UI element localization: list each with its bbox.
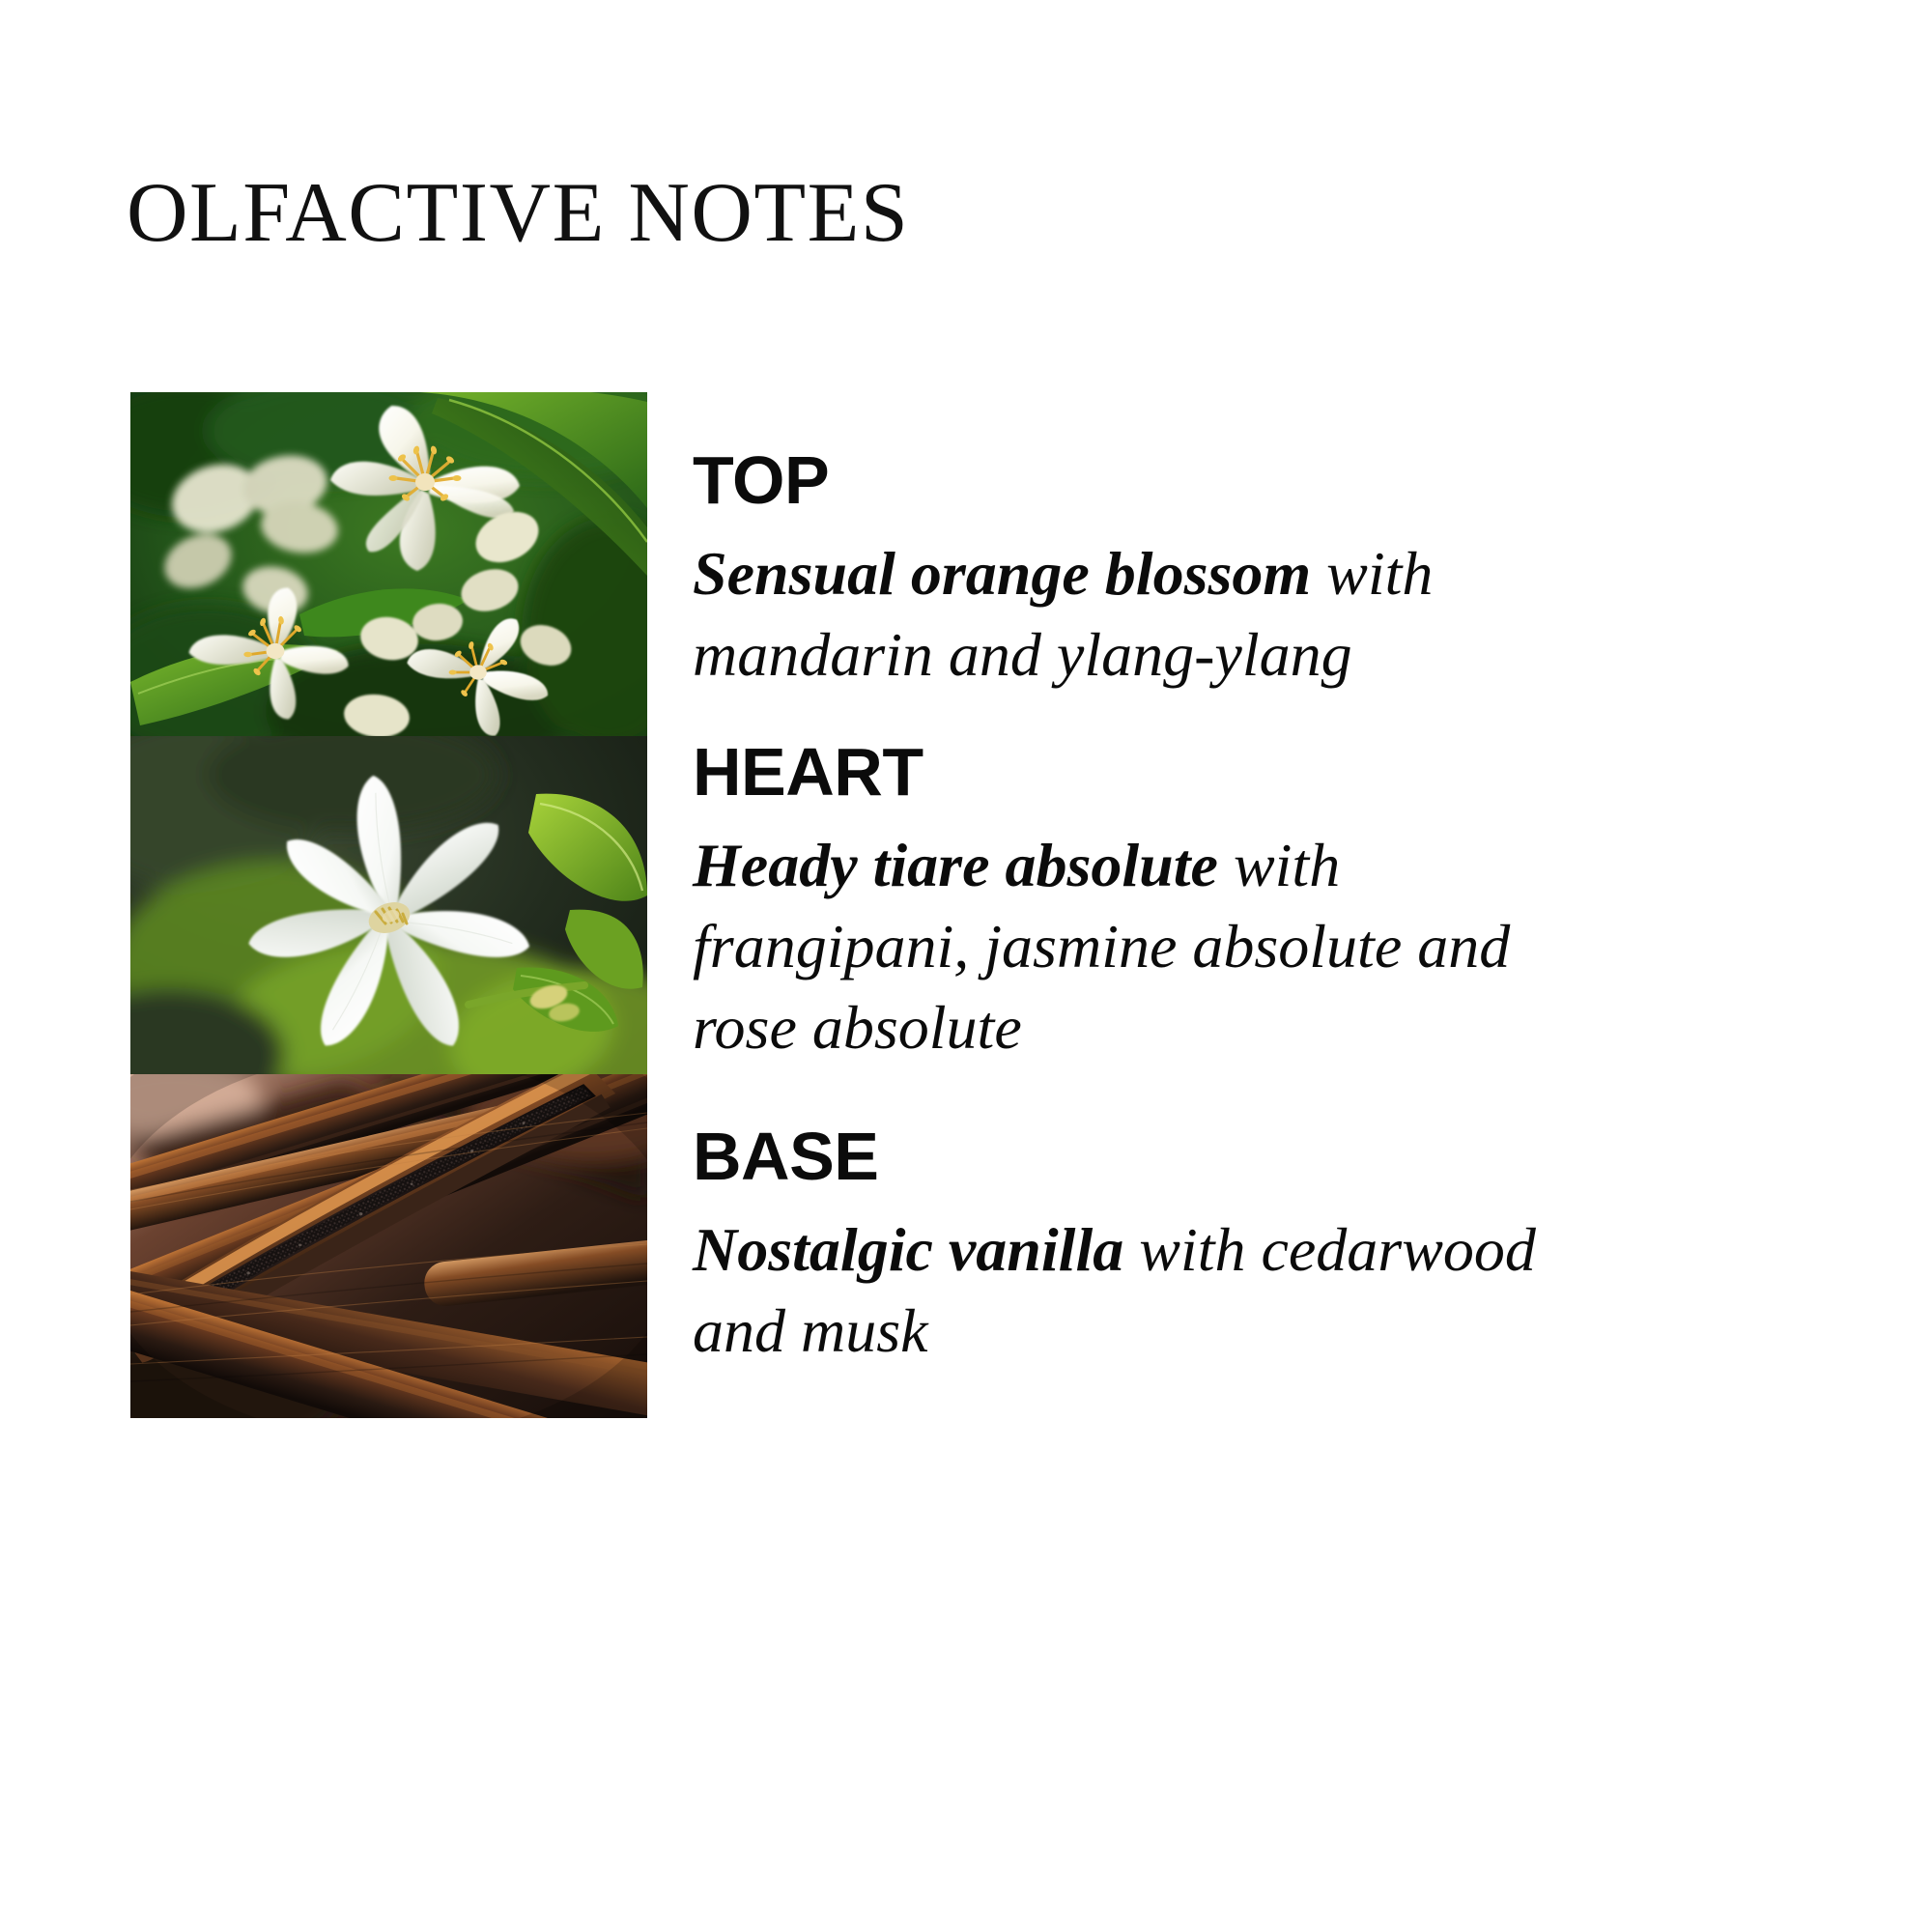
ingredient-image-column <box>130 392 647 1418</box>
olfactive-notes-list: TOP Sensual orange blossom with mandarin… <box>693 446 1562 1372</box>
note-label-top: TOP <box>693 446 1562 514</box>
note-description-base: Nostalgic vanilla with cedarwood and mus… <box>693 1209 1543 1372</box>
vanilla-pods-photo <box>130 1074 647 1418</box>
note-block-top: TOP Sensual orange blossom with mandarin… <box>693 446 1562 738</box>
note-label-heart: HEART <box>693 738 1562 806</box>
note-block-base: BASE Nostalgic vanilla with cedarwood an… <box>693 1122 1562 1372</box>
note-block-heart: HEART Heady tiare absolute with frangipa… <box>693 738 1562 1122</box>
note-description-heart: Heady tiare absolute with frangipani, ja… <box>693 825 1543 1068</box>
olfactive-notes-page: OLFACTIVE NOTES <box>0 0 1932 1932</box>
orange-blossom-photo <box>130 392 647 736</box>
tiare-flower-photo <box>130 736 647 1074</box>
note-lead-heart: Heady tiare absolute <box>693 831 1218 899</box>
page-title: OLFACTIVE NOTES <box>127 171 909 256</box>
note-lead-top: Sensual orange blossom <box>693 539 1311 608</box>
note-description-top: Sensual orange blossom with mandarin and… <box>693 533 1543 696</box>
note-label-base: BASE <box>693 1122 1562 1190</box>
note-lead-base: Nostalgic vanilla <box>693 1215 1123 1284</box>
